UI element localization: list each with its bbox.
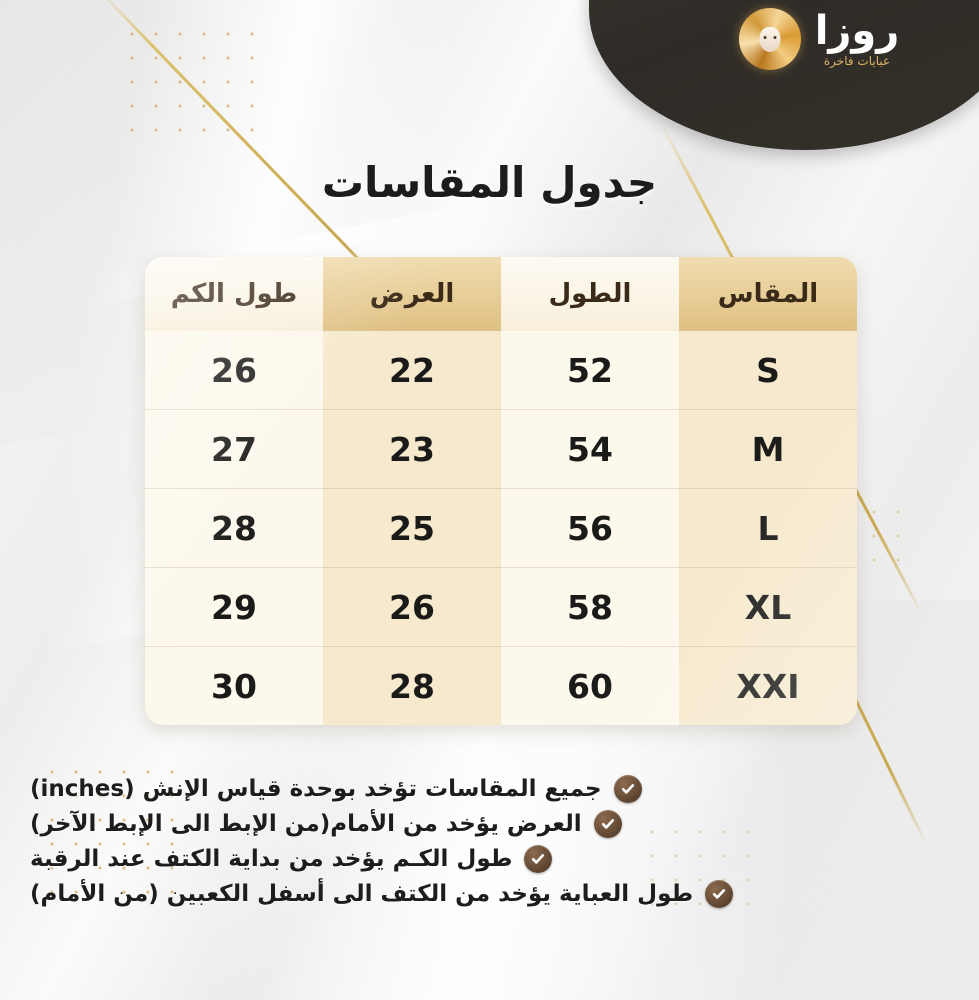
cell-size: XL <box>679 568 857 647</box>
cell-width: 23 <box>323 410 501 489</box>
page-title: جدول المقاسات <box>0 158 979 207</box>
brand-badge: روزا عبايات فاخرة <box>589 0 979 150</box>
table-row: XL 58 26 29 <box>145 568 857 647</box>
check-circle-icon <box>614 775 642 803</box>
list-item: طول العباية يؤخد من الكتف الى أسفل الكعب… <box>30 880 939 908</box>
size-table-body: S 52 22 26 M 54 23 27 L 56 25 28 <box>145 331 857 725</box>
note-text: طول الكـم يؤخد من بداية الكتف عند الرقبة <box>30 846 512 872</box>
list-item: العرض يؤخد من الأمام(من الإبط الى الإبط … <box>30 810 939 838</box>
check-circle-icon <box>705 880 733 908</box>
cell-width: 22 <box>323 331 501 410</box>
cell-width: 28 <box>323 647 501 726</box>
cell-sleeve: 26 <box>145 331 323 410</box>
cell-length: 54 <box>501 410 679 489</box>
brand-name: روزا <box>815 11 900 51</box>
cell-size: XXI <box>679 647 857 726</box>
note-text: العرض يؤخد من الأمام(من الإبط الى الإبط … <box>30 811 582 837</box>
brand-tagline: عبايات فاخرة <box>824 55 890 67</box>
size-chart-page: روزا عبايات فاخرة جدول المقاسات المقاس ا… <box>0 0 979 1000</box>
cell-sleeve: 28 <box>145 489 323 568</box>
dot-grid-top-left <box>120 22 265 142</box>
rose-swirl-face-icon <box>739 8 801 70</box>
list-item: جميع المقاسات تؤخد بوحدة قياس الإنش (inc… <box>30 775 939 803</box>
cell-width: 26 <box>323 568 501 647</box>
cell-size: M <box>679 410 857 489</box>
cell-size: L <box>679 489 857 568</box>
check-circle-icon <box>594 810 622 838</box>
cell-sleeve: 30 <box>145 647 323 726</box>
size-table-container: المقاس الطول العرض طول الكم S 52 22 26 M… <box>145 257 857 725</box>
column-header-length: الطول <box>501 257 679 331</box>
column-header-size: المقاس <box>679 257 857 331</box>
cell-sleeve: 27 <box>145 410 323 489</box>
table-row: XXI 60 28 30 <box>145 647 857 726</box>
column-header-width: العرض <box>323 257 501 331</box>
column-header-sleeve: طول الكم <box>145 257 323 331</box>
cell-sleeve: 29 <box>145 568 323 647</box>
table-row: L 56 25 28 <box>145 489 857 568</box>
cell-length: 60 <box>501 647 679 726</box>
table-header-row: المقاس الطول العرض طول الكم <box>145 257 857 331</box>
cell-length: 56 <box>501 489 679 568</box>
cell-width: 25 <box>323 489 501 568</box>
cell-size: S <box>679 331 857 410</box>
check-circle-icon <box>524 845 552 873</box>
list-item: طول الكـم يؤخد من بداية الكتف عند الرقبة <box>30 845 939 873</box>
size-table: المقاس الطول العرض طول الكم S 52 22 26 M… <box>145 257 857 725</box>
measurement-notes-list: جميع المقاسات تؤخد بوحدة قياس الإنش (inc… <box>30 775 939 908</box>
note-text: طول العباية يؤخد من الكتف الى أسفل الكعب… <box>30 881 693 907</box>
note-text: جميع المقاسات تؤخد بوحدة قياس الإنش (inc… <box>30 776 602 802</box>
logo-face-detail <box>759 27 780 52</box>
cell-length: 52 <box>501 331 679 410</box>
cell-length: 58 <box>501 568 679 647</box>
table-row: M 54 23 27 <box>145 410 857 489</box>
table-row: S 52 22 26 <box>145 331 857 410</box>
